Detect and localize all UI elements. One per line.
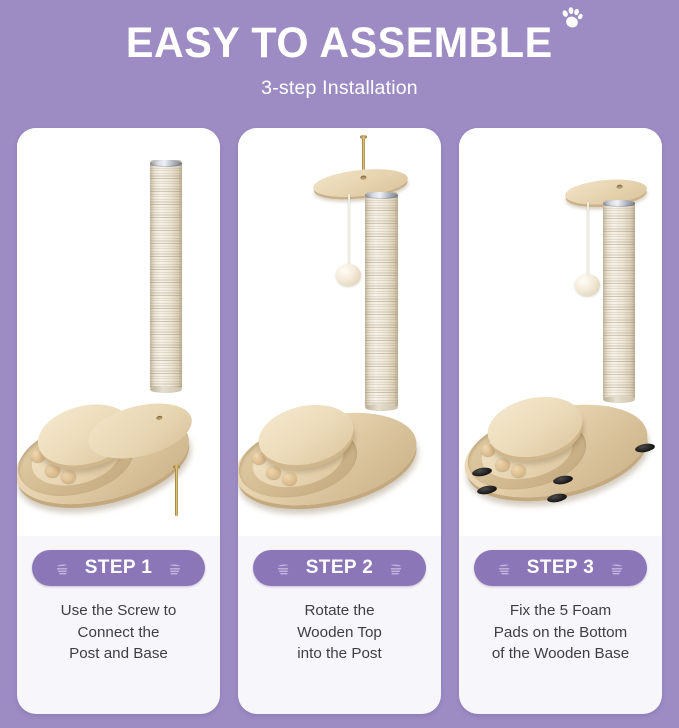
step-badge-3[interactable]: STEP 3 [474,550,647,586]
hanging-pom-ball [575,274,600,296]
step-badge-wrap-3: STEP 3 [459,550,662,586]
paw-print-icon [558,6,584,32]
screw-hole [616,185,622,190]
hanging-string [348,194,350,266]
unassembled-parts-illustration [17,128,220,536]
track-ball [495,458,510,471]
step-badge-label: STEP 1 [85,557,153,579]
wing-flourish-icon [495,559,514,578]
assembly-screw [362,138,365,170]
hanging-string [587,202,589,276]
step-badge-wrap-2: STEP 2 [238,550,441,586]
step-badge-wrap-1: STEP 1 [17,550,220,586]
screw-head [173,465,179,469]
steps-container: STEP 1 Use the Screw to Connect the Post… [0,128,679,728]
wooden-base-with-track-balls [238,386,427,516]
track-ball [511,464,526,477]
step-badge-1[interactable]: STEP 1 [32,550,205,586]
step-badge-2[interactable]: STEP 2 [253,550,426,586]
wooden-base-with-track-balls [17,386,201,516]
wing-flourish-icon [274,559,293,578]
page-title: EASY TO ASSEMBLE [126,18,553,68]
step-caption-1: Use the Screw to Connect the Post and Ba… [17,586,220,714]
page-subtitle: 3-step Installation [0,77,679,100]
step-card-1[interactable]: STEP 1 Use the Screw to Connect the Post… [17,128,220,714]
step-badge-label: STEP 2 [306,557,374,579]
assembly-screw [175,468,178,516]
wing-flourish-icon [165,559,184,578]
step-card-3[interactable]: STEP 3 Fix the 5 Foam Pads on the Bottom… [459,128,662,714]
screw-head [360,135,366,139]
hanging-pom-ball [336,264,361,286]
screw-hole [156,415,163,420]
sisal-scratching-post [150,160,182,390]
wing-flourish-icon [386,559,405,578]
wing-flourish-icon [53,559,72,578]
title-row: EASY TO ASSEMBLE [117,18,561,68]
sisal-scratching-post [365,192,398,408]
track-ball [61,470,76,483]
step-badge-label: STEP 3 [527,557,595,579]
step-caption-2: Rotate the Wooden Top into the Post [238,586,441,714]
foam-pads-illustration [459,128,662,536]
track-ball [282,472,297,485]
track-ball [266,466,281,479]
screw-hole [360,175,366,180]
track-ball [45,464,60,477]
attaching-wooden-top-illustration [238,128,441,536]
sisal-scratching-post [603,200,635,400]
step-card-2[interactable]: STEP 2 Rotate the Wooden Top into the Po… [238,128,441,714]
step-caption-3: Fix the 5 Foam Pads on the Bottom of the… [459,586,662,714]
wing-flourish-icon [607,559,626,578]
page-header: EASY TO ASSEMBLE 3-step Installation [0,0,679,128]
